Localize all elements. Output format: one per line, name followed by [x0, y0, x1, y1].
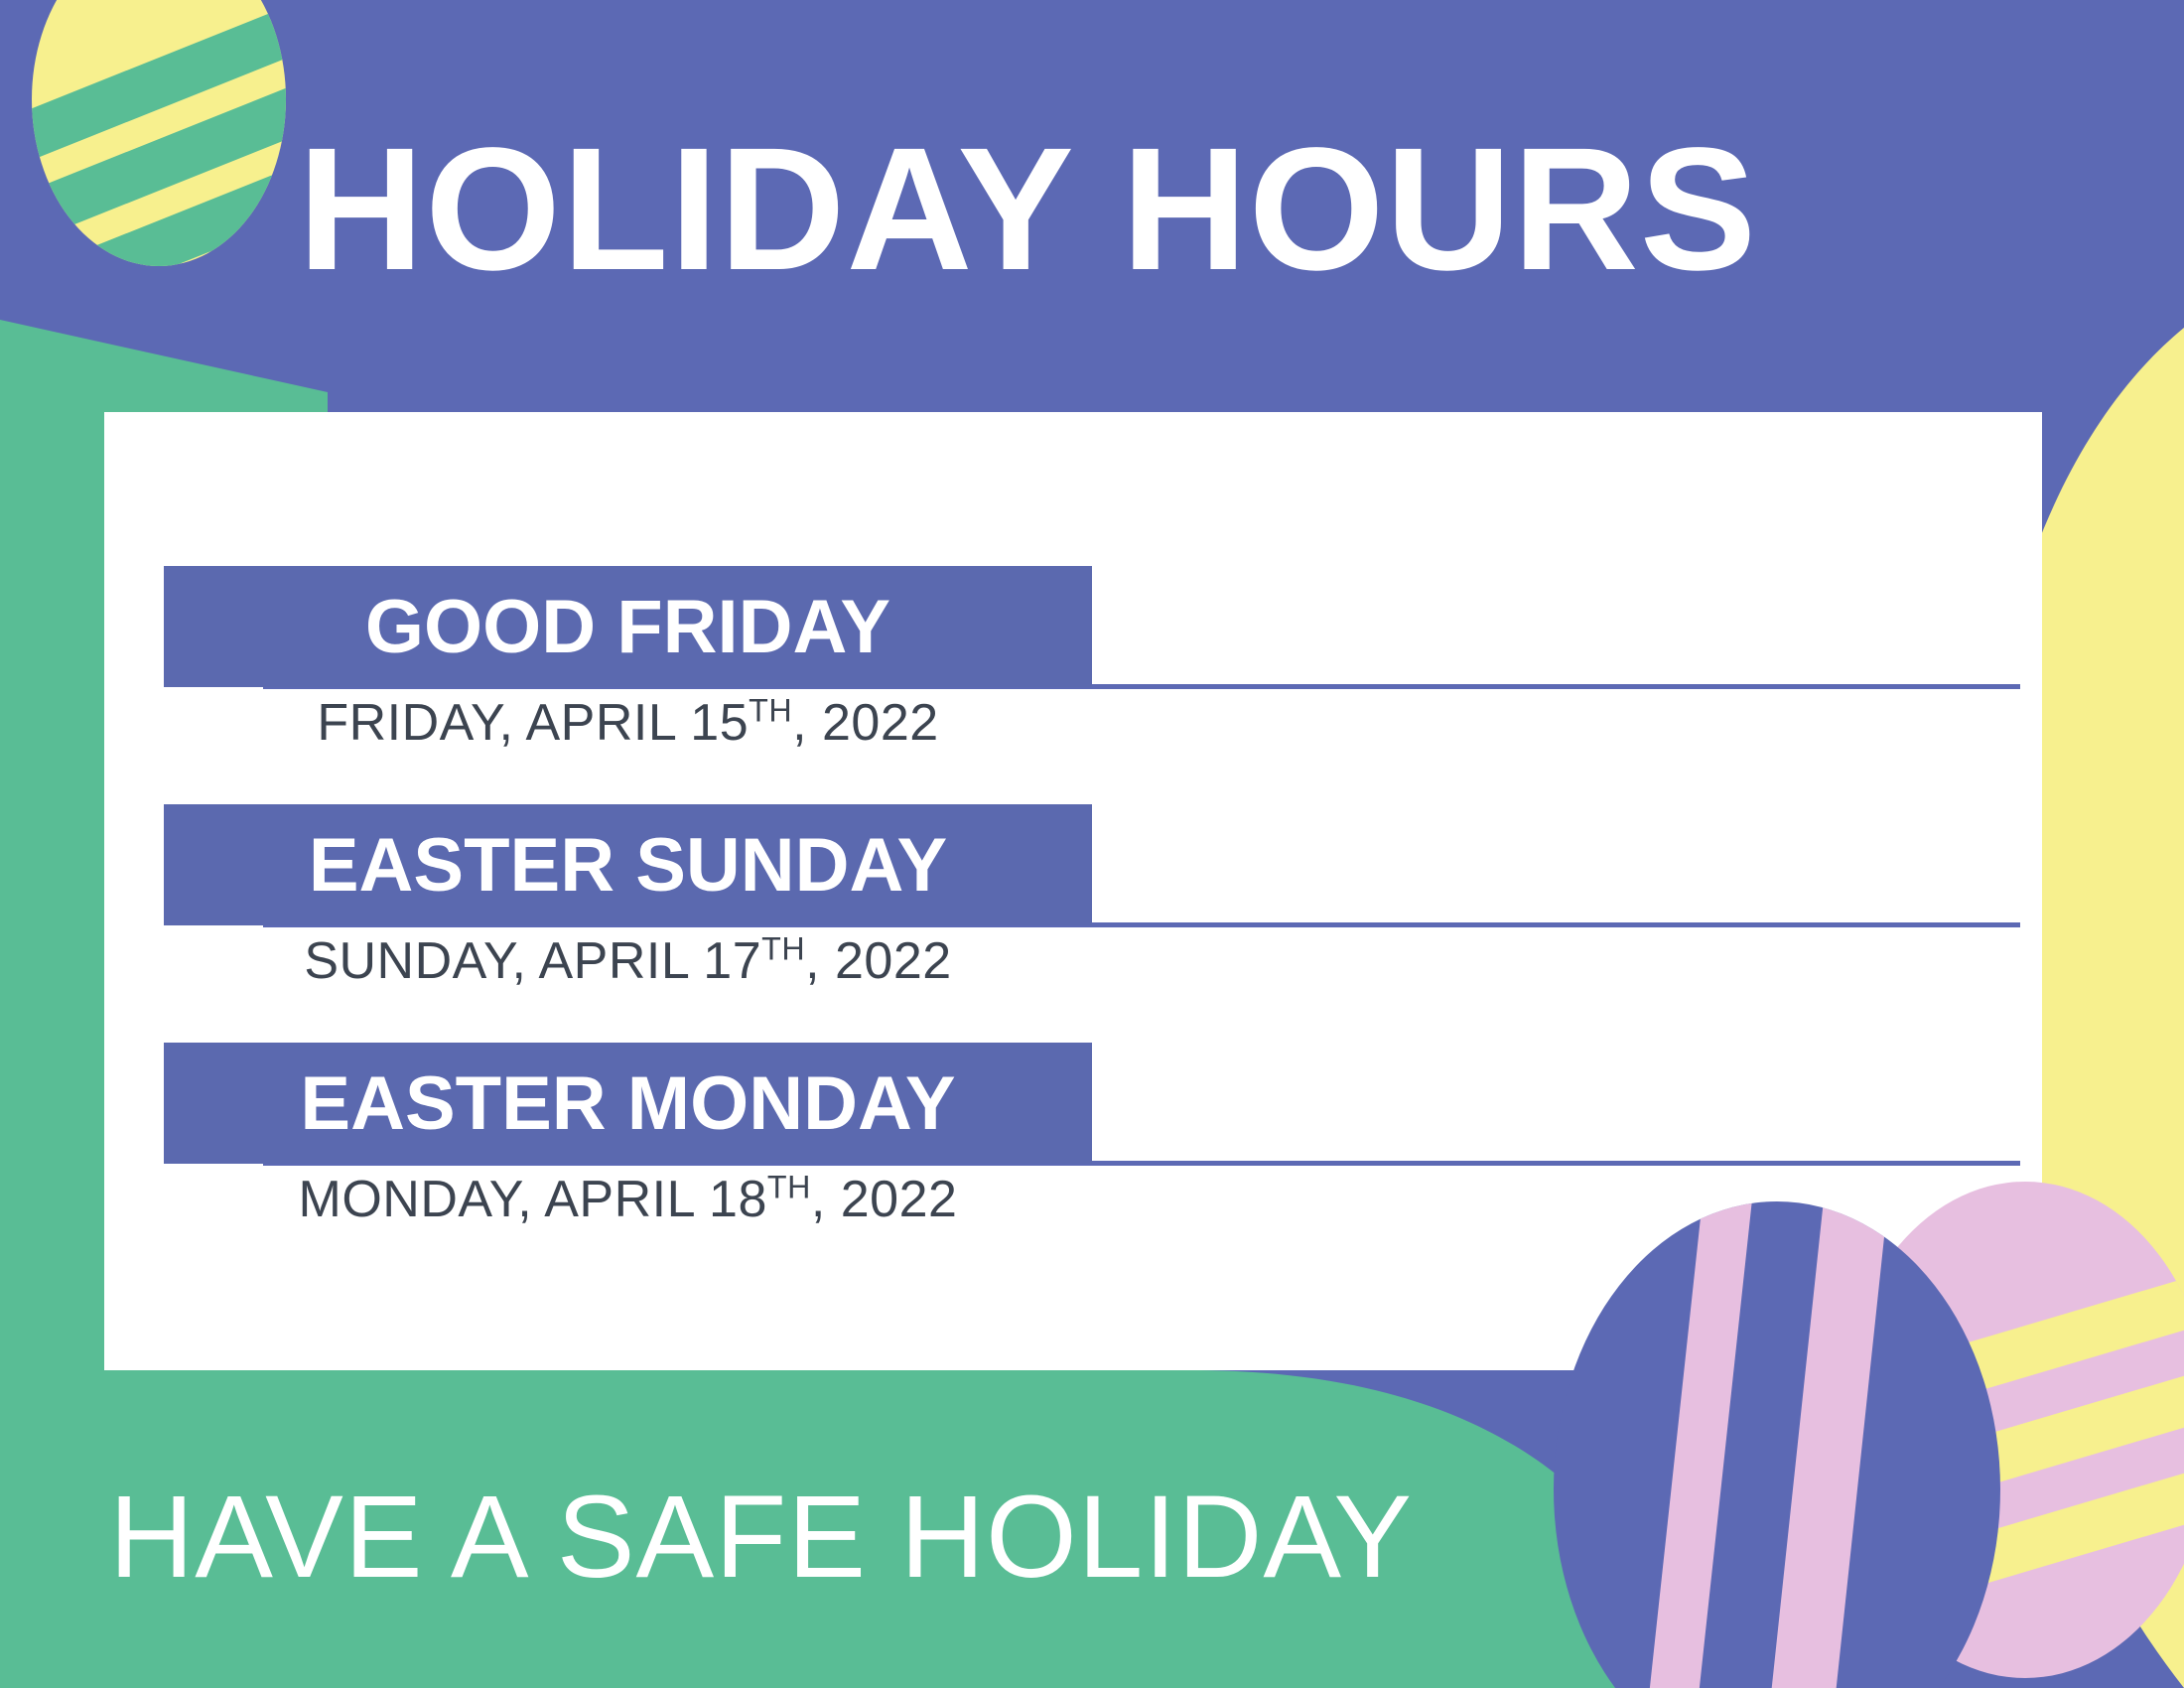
- foreground-decorations: [0, 0, 2184, 1688]
- holiday-hours-poster: HOLIDAY HOURS GOOD FRIDAY FRIDAY, APRIL …: [0, 0, 2184, 1688]
